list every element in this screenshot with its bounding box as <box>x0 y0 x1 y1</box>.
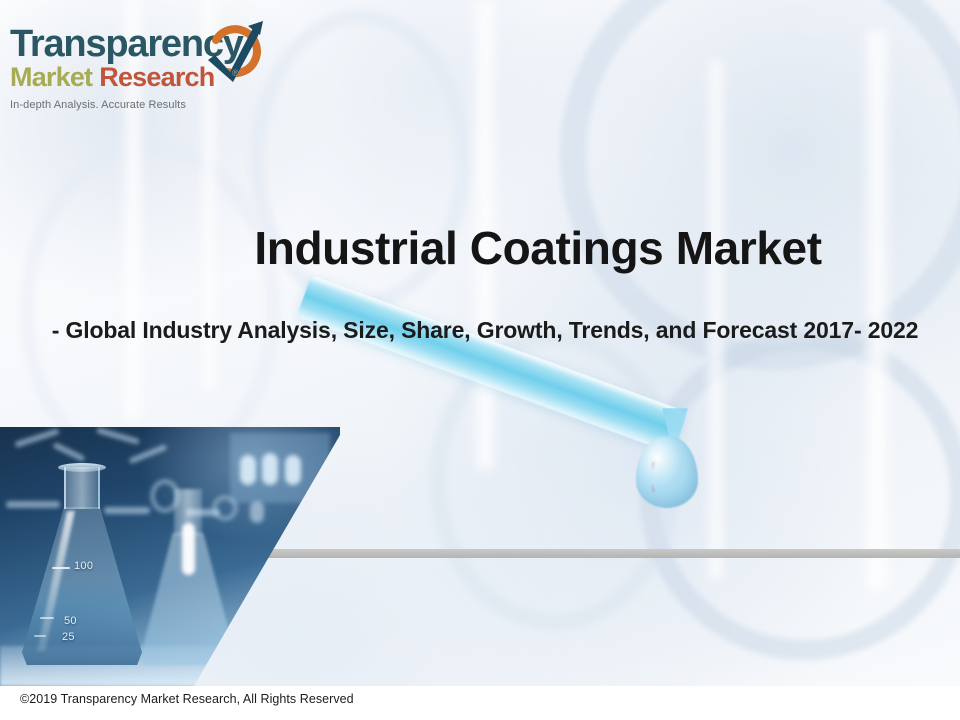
test-tube-cap <box>262 453 278 485</box>
pipette-illustration <box>300 268 720 518</box>
divider-bar <box>265 549 960 558</box>
chalk-scribble <box>128 444 167 465</box>
page-subtitle: - Global Industry Analysis, Size, Share,… <box>0 315 960 345</box>
logo-checkmark-arrow-icon <box>206 20 268 90</box>
flask-graduation-tick <box>40 617 54 619</box>
liquid-droplet <box>636 436 698 508</box>
background-flask-highlight <box>182 523 195 575</box>
logo-word-market: Market <box>10 62 92 92</box>
chalk-scribble <box>52 442 85 462</box>
pipette-body <box>296 275 687 453</box>
flask-graduation-label-25: 25 <box>62 631 75 643</box>
test-tube-cap <box>240 455 256 485</box>
registered-trademark-icon: ® <box>232 68 239 78</box>
company-logo[interactable]: Transparency MarketResearch In-depth Ana… <box>10 24 260 130</box>
logo-word-research: Research <box>99 62 214 92</box>
copyright-notice: ©2019 Transparency Market Research, All … <box>20 692 354 706</box>
test-tube-cap <box>250 501 264 523</box>
slide-root: 100 50 25 Transparency MarketResearch In… <box>0 0 960 720</box>
flask-graduation-tick <box>34 635 46 637</box>
glass-streak <box>860 30 894 590</box>
logo-tagline: In-depth Analysis. Accurate Results <box>10 99 260 111</box>
page-title: Industrial Coatings Market <box>0 222 960 274</box>
test-tube-cap <box>285 455 301 485</box>
flask-graduation-label-100: 100 <box>74 560 93 572</box>
erlenmeyer-flask: 100 50 25 <box>22 467 142 665</box>
flask-graduation-label-50: 50 <box>64 615 77 627</box>
chalk-scribble <box>96 427 140 445</box>
flask-graduation-tick <box>52 567 70 569</box>
flask-neck <box>64 467 100 509</box>
